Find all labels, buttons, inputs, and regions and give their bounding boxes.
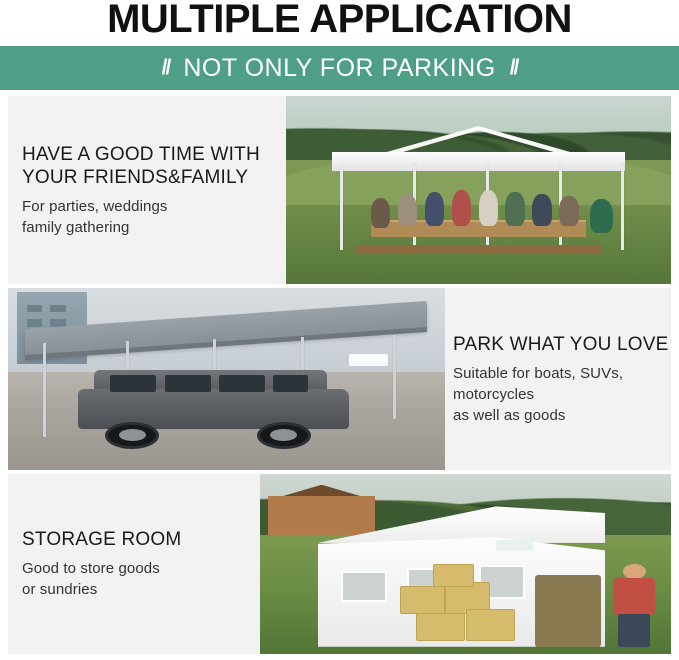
- banner-subtitle: NOT ONLY FOR PARKING: [183, 54, 495, 83]
- section-parking-image: [8, 288, 445, 470]
- section-storage-body-line1: Good to store goods: [22, 558, 260, 579]
- section-party-image: [286, 96, 671, 284]
- section-storage-body-line2: or sundries: [22, 579, 260, 600]
- section-parking-body-line1: Suitable for boats, SUVs,: [453, 363, 671, 384]
- worker-person: [605, 564, 663, 647]
- guest: [590, 199, 613, 233]
- section-storage: STORAGE ROOM Good to store goods or sund…: [8, 474, 671, 654]
- worker-legs: [618, 614, 650, 647]
- hay-bale: [466, 609, 515, 641]
- section-party-heading-line1: HAVE A GOOD TIME WITH: [22, 143, 286, 166]
- guest: [479, 190, 498, 226]
- section-parking-body-line3: as well as goods: [453, 405, 671, 426]
- worker-head: [623, 564, 646, 579]
- slash-left-icon: //: [148, 56, 184, 80]
- guest: [505, 192, 524, 226]
- section-party-body-line1: For parties, weddings: [22, 196, 286, 217]
- section-party-heading: HAVE A GOOD TIME WITH YOUR FRIENDS&FAMIL…: [22, 143, 286, 189]
- slash-right-icon: //: [496, 56, 532, 80]
- guest: [452, 190, 471, 226]
- section-storage-image: [260, 474, 671, 654]
- hay-bale: [400, 586, 445, 615]
- suv-window: [110, 375, 156, 392]
- guest: [371, 198, 390, 228]
- suv-window: [273, 375, 308, 392]
- carport-suv-scene: [8, 288, 445, 470]
- section-parking: PARK WHAT YOU LOVE Suitable for boats, S…: [8, 288, 671, 470]
- suv-vehicle: [78, 368, 349, 444]
- section-storage-heading: STORAGE ROOM: [22, 528, 260, 551]
- carport-pole: [43, 343, 46, 438]
- canopy-poles: [286, 96, 671, 284]
- guest: [425, 192, 444, 226]
- page-title: MULTIPLE APPLICATION: [0, 0, 679, 42]
- section-party-body-line2: family gathering: [22, 217, 286, 238]
- suv-window: [165, 375, 211, 392]
- section-storage-text: STORAGE ROOM Good to store goods or sund…: [8, 474, 260, 654]
- suv-wheel: [257, 422, 311, 450]
- section-parking-heading: PARK WHAT YOU LOVE: [453, 333, 671, 356]
- section-party-text: HAVE A GOOD TIME WITH YOUR FRIENDS&FAMIL…: [8, 96, 286, 284]
- hay-bale: [433, 564, 474, 587]
- shelter-roof: [318, 506, 606, 543]
- section-parking-body-line2: motorcycles: [453, 384, 671, 405]
- section-storage-body: Good to store goods or sundries: [22, 558, 260, 600]
- canopy-party-scene: [286, 96, 671, 284]
- storage-shelter-scene: [260, 474, 671, 654]
- section-parking-body: Suitable for boats, SUVs, motorcycles as…: [453, 363, 671, 426]
- section-parking-text: PARK WHAT YOU LOVE Suitable for boats, S…: [443, 288, 671, 470]
- guest: [559, 196, 578, 226]
- hand-cart: [535, 575, 601, 647]
- hay-bale: [416, 613, 465, 642]
- brand-logo-badge: [496, 540, 533, 551]
- guest: [398, 194, 417, 226]
- suv-wheel: [105, 422, 159, 450]
- section-party: HAVE A GOOD TIME WITH YOUR FRIENDS&FAMIL…: [8, 96, 671, 284]
- canopy-pole: [340, 164, 343, 250]
- shelter-window: [341, 571, 387, 602]
- guest: [532, 194, 551, 226]
- carport-pole: [393, 335, 396, 419]
- subtitle-banner: // NOT ONLY FOR PARKING //: [0, 46, 679, 90]
- worker-torso: [613, 578, 654, 615]
- section-party-body: For parties, weddings family gathering: [22, 196, 286, 238]
- section-party-heading-line2: YOUR FRIENDS&FAMILY: [22, 166, 286, 189]
- picnic-bench: [355, 245, 601, 254]
- product-infographic-page: MULTIPLE APPLICATION // NOT ONLY FOR PAR…: [0, 0, 679, 660]
- suv-window: [219, 375, 265, 392]
- canopy-pole: [621, 164, 624, 250]
